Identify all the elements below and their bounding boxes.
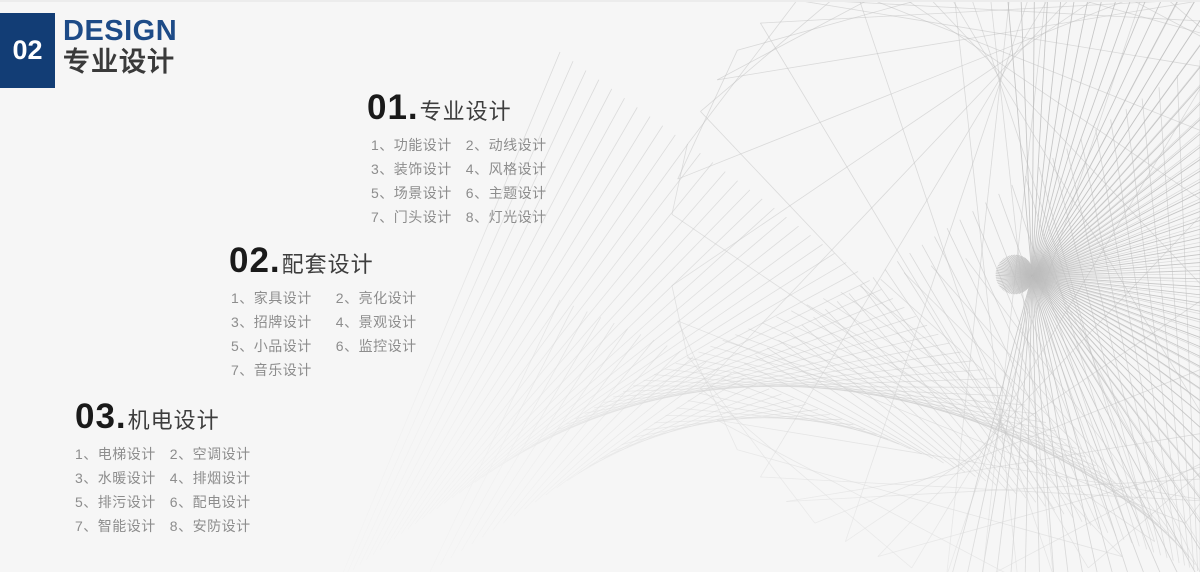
list-item: 2、亮化设计 xyxy=(336,286,417,310)
list-item: 5、场景设计 xyxy=(371,181,452,205)
list-item: 4、景观设计 xyxy=(336,310,417,334)
list-item: 1、电梯设计 xyxy=(75,442,156,466)
block-number: 02. xyxy=(229,243,281,278)
list-item: 6、主题设计 xyxy=(466,181,547,205)
list-item: 3、水暖设计 xyxy=(75,466,156,490)
block-heading: 03. 机电设计 xyxy=(75,399,251,434)
section-number-badge: 02 xyxy=(0,13,55,88)
block-number: 01. xyxy=(367,90,419,125)
content-block-01: 01. 专业设计 1、功能设计 2、动线设计 3、装饰设计 4、风格设计 5、场… xyxy=(367,90,547,229)
page-title-en: DESIGN xyxy=(63,16,177,46)
design-slide: 02 DESIGN 专业设计 01. 专业设计 1、功能设计 2、动线设计 3、… xyxy=(0,0,1200,572)
list-item: 2、空调设计 xyxy=(170,442,251,466)
block-item-list: 1、家具设计 2、亮化设计 3、招牌设计 4、景观设计 5、小品设计 6、监控设… xyxy=(229,286,417,382)
block-number: 03. xyxy=(75,399,127,434)
list-item: 8、灯光设计 xyxy=(466,205,547,229)
header-titles: DESIGN 专业设计 xyxy=(63,16,177,78)
block-title: 机电设计 xyxy=(128,410,220,432)
page-title-cn: 专业设计 xyxy=(63,47,177,78)
list-item: 6、监控设计 xyxy=(336,334,417,358)
list-item: 3、招牌设计 xyxy=(231,310,312,334)
list-item: 5、小品设计 xyxy=(231,334,312,358)
block-title: 配套设计 xyxy=(282,254,374,276)
list-item: 3、装饰设计 xyxy=(371,157,452,181)
list-item: 7、音乐设计 xyxy=(231,358,312,382)
content-block-02: 02. 配套设计 1、家具设计 2、亮化设计 3、招牌设计 4、景观设计 5、小… xyxy=(229,243,417,382)
block-heading: 01. 专业设计 xyxy=(367,90,547,125)
block-item-list: 1、功能设计 2、动线设计 3、装饰设计 4、风格设计 5、场景设计 6、主题设… xyxy=(367,133,547,229)
list-item: 1、功能设计 xyxy=(371,133,452,157)
list-item: 6、配电设计 xyxy=(170,490,251,514)
content-block-03: 03. 机电设计 1、电梯设计 2、空调设计 3、水暖设计 4、排烟设计 5、排… xyxy=(75,399,251,538)
list-item: 5、排污设计 xyxy=(75,490,156,514)
list-item: 4、风格设计 xyxy=(466,157,547,181)
list-item: 8、安防设计 xyxy=(170,514,251,538)
list-item: 2、动线设计 xyxy=(466,133,547,157)
list-item: 4、排烟设计 xyxy=(170,466,251,490)
block-heading: 02. 配套设计 xyxy=(229,243,417,278)
block-title: 专业设计 xyxy=(420,101,512,123)
list-item: 1、家具设计 xyxy=(231,286,312,310)
list-item: 7、门头设计 xyxy=(371,205,452,229)
block-item-list: 1、电梯设计 2、空调设计 3、水暖设计 4、排烟设计 5、排污设计 6、配电设… xyxy=(75,442,251,538)
list-item: 7、智能设计 xyxy=(75,514,156,538)
top-divider xyxy=(0,0,1200,2)
